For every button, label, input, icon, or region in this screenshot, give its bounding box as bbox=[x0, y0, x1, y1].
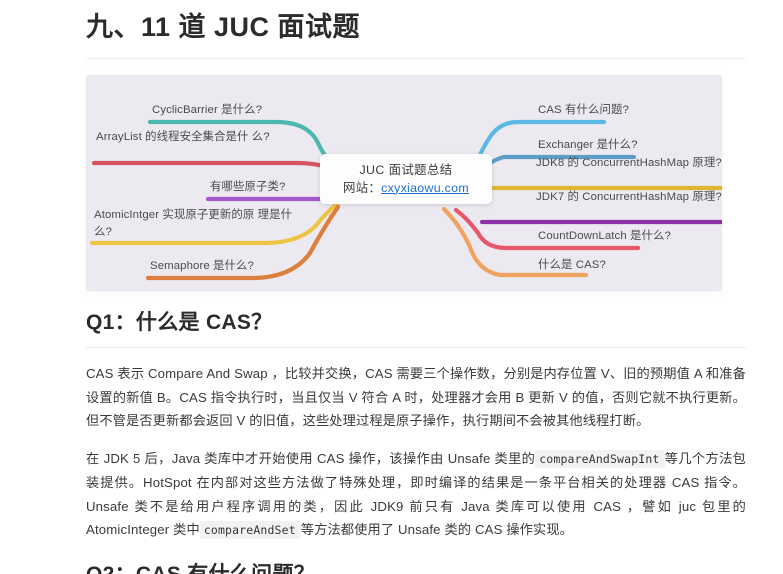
mindmap-label-right-5: 什么是 CAS? bbox=[538, 257, 606, 274]
mindmap-label-right-2: JDK8 的 ConcurrentHashMap 原理? bbox=[536, 155, 726, 172]
section-q1-heading: Q1：什么是 CAS？ bbox=[86, 309, 746, 348]
mindmap-center-node: JUC 面试题总结 网站：cxyxiaowu.com bbox=[320, 154, 492, 204]
section-q2-heading: Q2：CAS 有什么问题？ bbox=[86, 561, 746, 574]
page-title: 九、11 道 JUC 面试题 bbox=[86, 10, 746, 59]
section-q1: Q1：什么是 CAS？ CAS 表示 Compare And Swap ，比较并… bbox=[86, 309, 746, 543]
mindmap-figure: CyclicBarrier 是什么? ArrayList 的线程安全集合是什 么… bbox=[86, 75, 722, 291]
mindmap-center-site-prefix: 网站： bbox=[343, 181, 381, 195]
branch-line-left-1 bbox=[94, 163, 336, 172]
section-q2: Q2：CAS 有什么问题？ CAS 从语义上来说存在一个逻辑漏洞：如果 V 初次… bbox=[86, 561, 746, 574]
text-run: CAS 表示 Compare And Swap ，比较并交换，CAS 需要三个操… bbox=[86, 366, 746, 428]
mindmap-label-left-2: 有哪些原子类? bbox=[210, 179, 285, 196]
document-content: 九、11 道 JUC 面试题 bbox=[86, 0, 746, 574]
inline-code-compare-and-swap-int: compareAndSwapInt bbox=[535, 450, 664, 468]
mindmap-center-title: JUC 面试题总结 bbox=[359, 161, 452, 179]
section-q1-paragraph-1: CAS 表示 Compare And Swap ，比较并交换，CAS 需要三个操… bbox=[86, 362, 746, 433]
mindmap-label-left-3: AtomicIntger 实现原子更新的原 理是什么? bbox=[94, 207, 294, 241]
mindmap-label-left-0: CyclicBarrier 是什么? bbox=[152, 102, 262, 119]
text-run: 等方法都使用了 Unsafe 类的 CAS 操作实现。 bbox=[301, 522, 573, 537]
mindmap-center-link[interactable]: cxyxiaowu.com bbox=[381, 181, 469, 195]
text-run: 在 JDK 5 后，Java 类库中才开始使用 CAS 操作，该操作由 Unsa… bbox=[86, 451, 535, 466]
mindmap-label-right-4: CountDownLatch 是什么? bbox=[538, 228, 671, 245]
mindmap-label-right-0: CAS 有什么问题? bbox=[538, 102, 629, 119]
mindmap-label-right-1: Exchanger 是什么? bbox=[538, 137, 638, 154]
mindmap-center-site: 网站：cxyxiaowu.com bbox=[343, 179, 469, 198]
mindmap-label-right-3: JDK7 的 ConcurrentHashMap 原理? bbox=[536, 189, 726, 206]
section-q1-paragraph-2: 在 JDK 5 后，Java 类库中才开始使用 CAS 操作，该操作由 Unsa… bbox=[86, 447, 746, 543]
mindmap-label-left-1: ArrayList 的线程安全集合是什 么? bbox=[96, 129, 286, 146]
document-page: 九、11 道 JUC 面试题 bbox=[0, 0, 783, 574]
mindmap-label-left-4: Semaphore 是什么? bbox=[150, 258, 254, 275]
inline-code-compare-and-set: compareAndSet bbox=[200, 521, 301, 539]
